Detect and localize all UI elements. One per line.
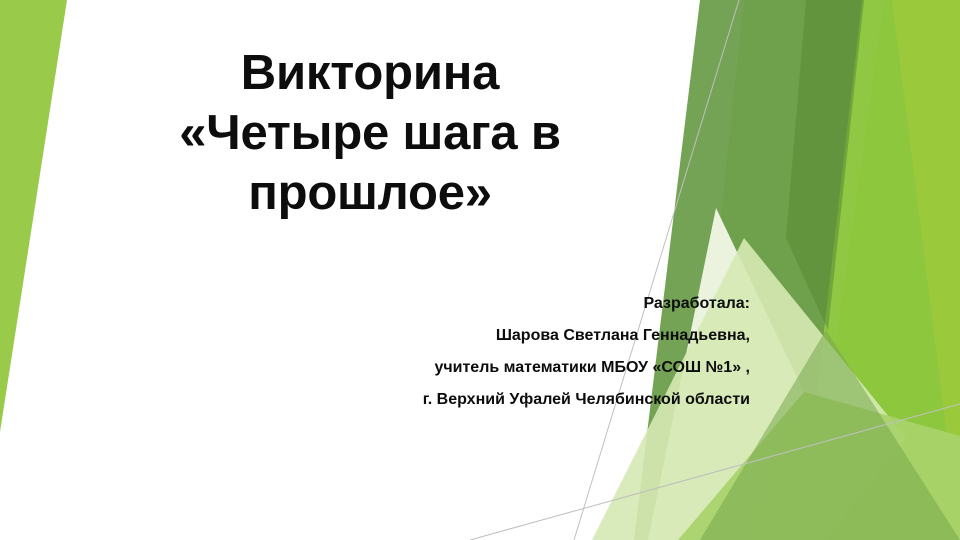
presentation-slide: Викторина «Четыре шага в прошлое» Разраб… [0,0,960,540]
credit-line-school: учитель математики МБОУ «СОШ №1» , [300,352,750,384]
credit-line-name: Шарова Светлана Геннадьевна, [300,320,750,352]
author-credits-block: Разработала: Шарова Светлана Геннадьевна… [300,288,750,416]
title-line-3: прошлое» [60,164,680,224]
title-line-1: Викторина [60,44,680,104]
credit-line-location: г. Верхний Уфалей Челябинской области [300,384,750,416]
title-block: Викторина «Четыре шага в прошлое» [60,44,680,223]
slide-content: Викторина «Четыре шага в прошлое» Разраб… [0,0,960,540]
title-line-2: «Четыре шага в [60,104,680,164]
credit-line-role: Разработала: [300,288,750,320]
